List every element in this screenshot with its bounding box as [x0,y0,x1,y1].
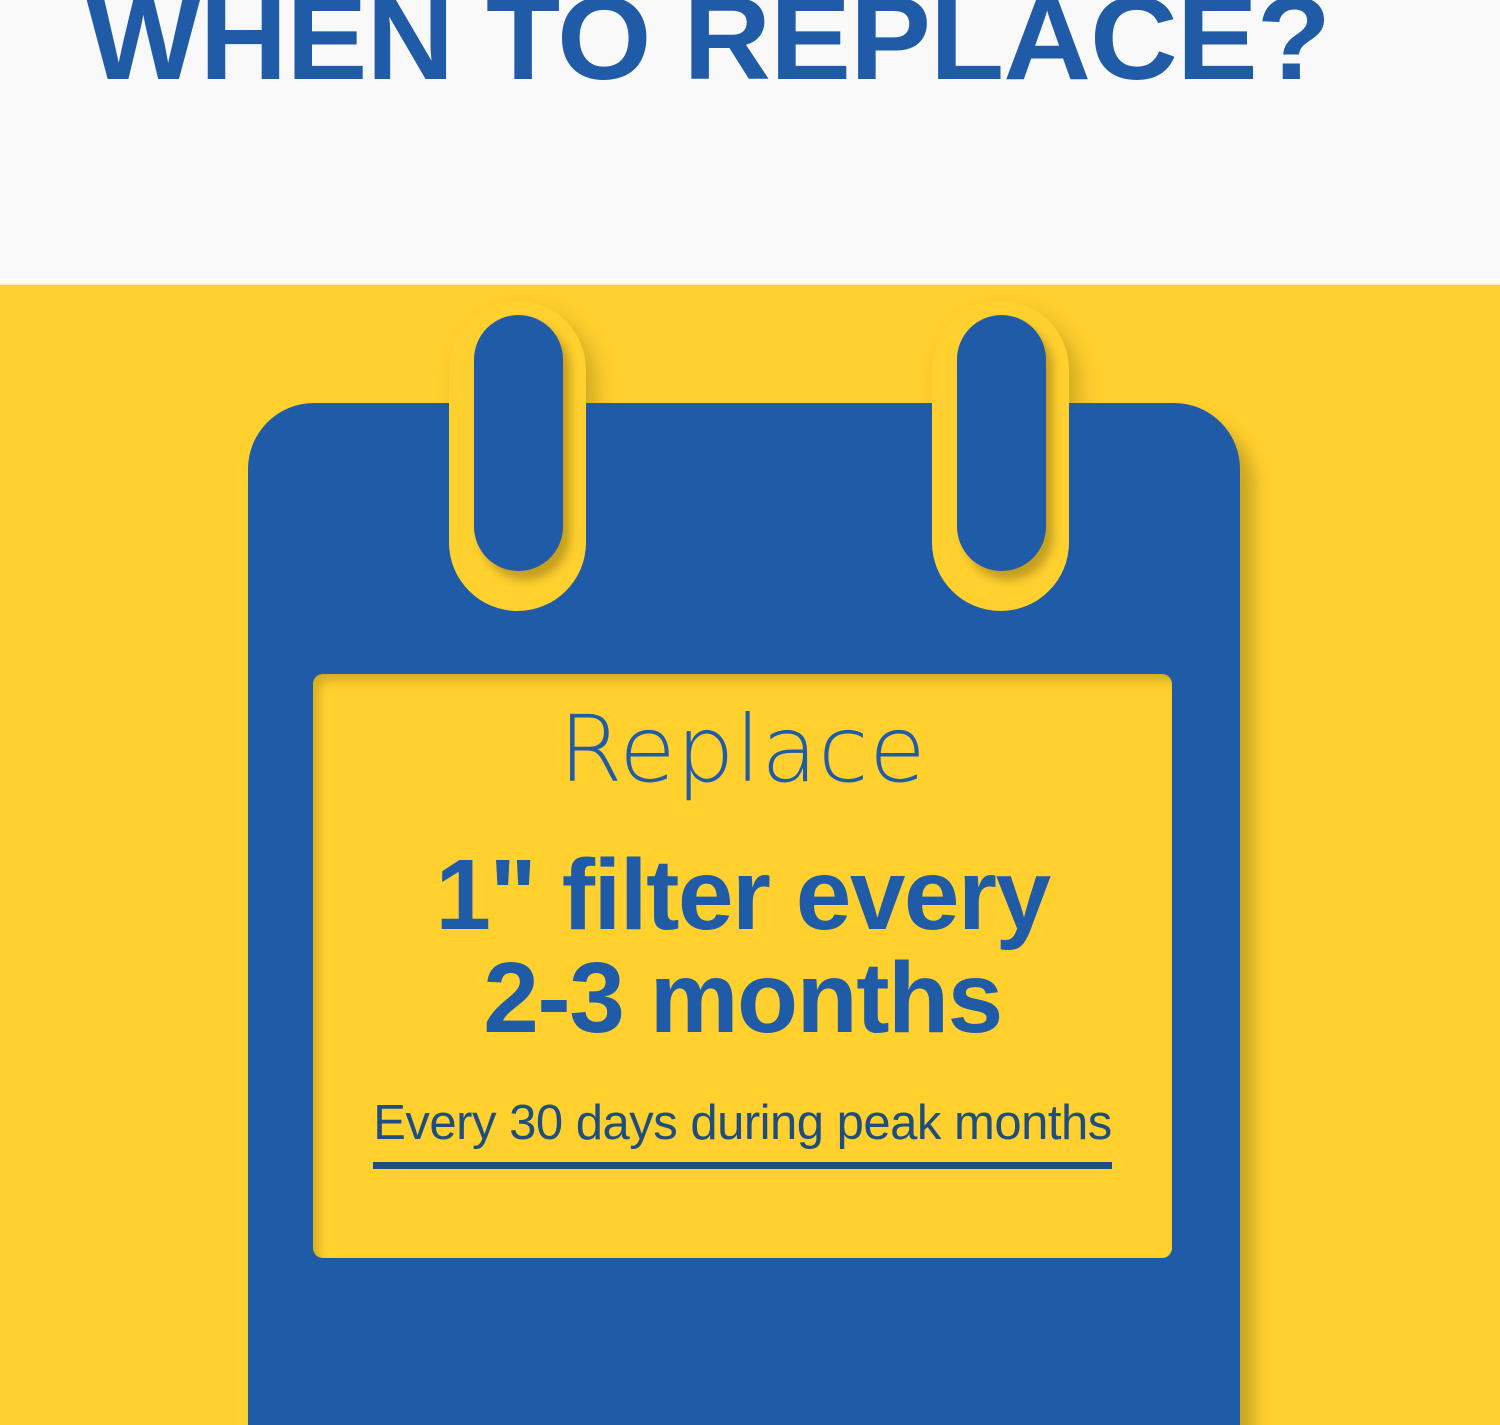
page-title: WHEN TO REPLACE? [86,0,1330,98]
replace-footnote-wrap: Every 30 days during peak months [313,1094,1172,1169]
replace-headline-line-1: 1" filter every [313,844,1172,947]
poster-canvas: WHEN TO REPLACE? Replace 1" filter every [0,0,1500,1425]
yellow-content-area: Replace 1" filter every 2-3 months Every… [0,285,1500,1425]
calendar-page-content: Replace 1" filter every 2-3 months Every… [313,674,1172,1258]
calendar-ring-left [474,315,563,571]
calendar-page: Replace 1" filter every 2-3 months Every… [313,674,1172,1258]
calendar-icon: Replace 1" filter every 2-3 months Every… [0,285,1500,1425]
replace-footnote: Every 30 days during peak months [373,1094,1111,1169]
calendar-ring-right [957,315,1046,571]
replace-headline: 1" filter every 2-3 months [313,844,1172,1050]
replace-headline-line-2: 2-3 months [313,947,1172,1050]
header-band: WHEN TO REPLACE? [0,0,1500,285]
calendar-body: Replace 1" filter every 2-3 months Every… [248,403,1240,1425]
replace-eyebrow: Replace [313,702,1172,798]
